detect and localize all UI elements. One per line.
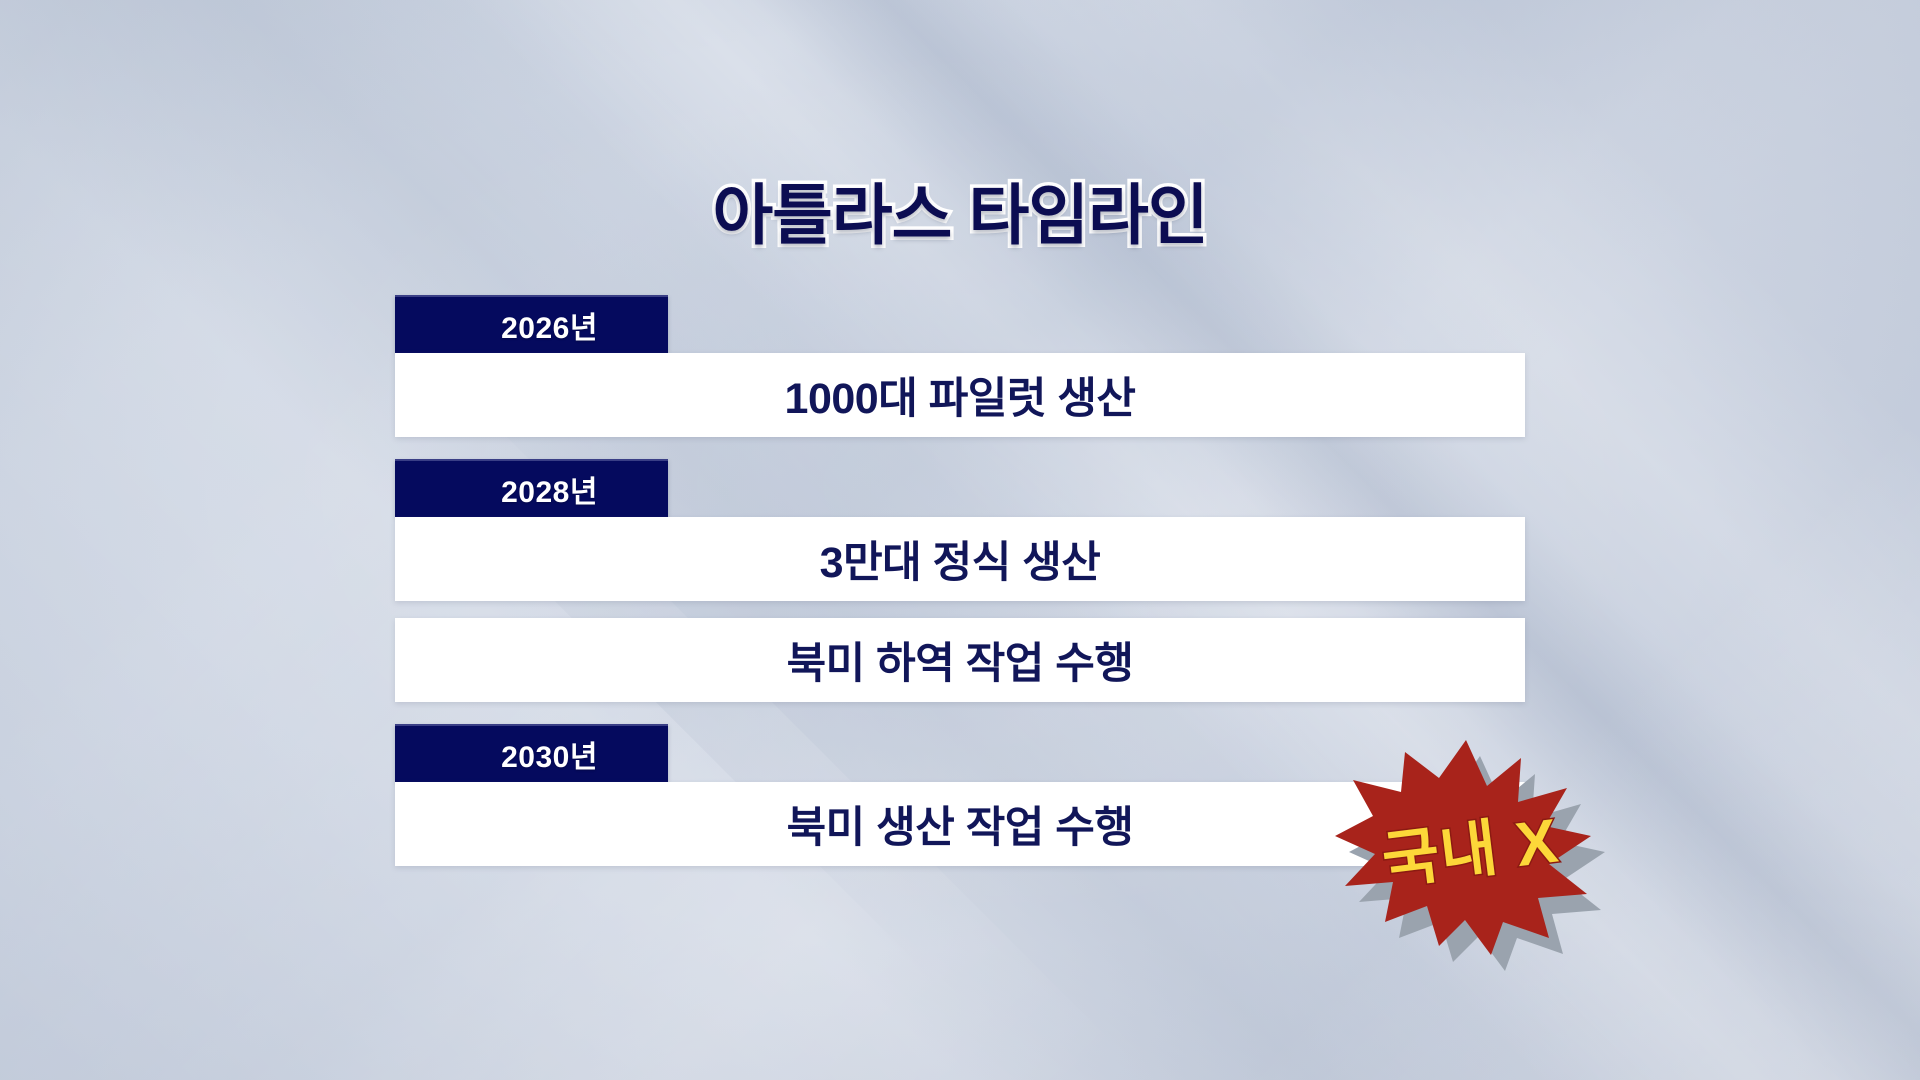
timeline-group-gap xyxy=(395,702,1525,724)
timeline-row-label: 북미 생산 작업 수행 xyxy=(787,793,1134,855)
starburst-stamp: 국내 X xyxy=(1335,740,1605,955)
timeline-row[interactable]: 북미 하역 작업 수행 xyxy=(395,618,1525,702)
year-badge-2028[interactable]: 2028년 xyxy=(395,459,668,517)
year-badge-label: 2026년 xyxy=(465,303,598,347)
timeline-group-2028: 2028년 3만대 정식 생산 북미 하역 작업 수행 xyxy=(395,459,1525,702)
stamp-text-wrap: 국내 X xyxy=(1323,724,1617,970)
timeline-group-gap xyxy=(395,437,1525,459)
timeline-row-label: 1000대 파일럿 생산 xyxy=(785,364,1136,426)
page-title: 아틀라스 타임라인 xyxy=(0,182,1920,248)
year-badge-2026[interactable]: 2026년 xyxy=(395,295,668,353)
stamp-label: 국내 X xyxy=(1376,789,1563,906)
timeline-row-label: 북미 하역 작업 수행 xyxy=(787,629,1134,691)
slide-content: 아틀라스 타임라인 2026년 1000대 파일럿 생산 2028년 3만대 정… xyxy=(0,0,1920,1080)
year-badge-label: 2028년 xyxy=(465,467,598,511)
timeline-row[interactable]: 3만대 정식 생산 xyxy=(395,517,1525,601)
year-badge-label: 2030년 xyxy=(465,732,598,776)
timeline-row[interactable]: 1000대 파일럿 생산 xyxy=(395,353,1525,437)
timeline-group-2026: 2026년 1000대 파일럿 생산 xyxy=(395,295,1525,437)
timeline-row-label: 3만대 정식 생산 xyxy=(820,528,1101,590)
year-badge-2030[interactable]: 2030년 xyxy=(395,724,668,782)
